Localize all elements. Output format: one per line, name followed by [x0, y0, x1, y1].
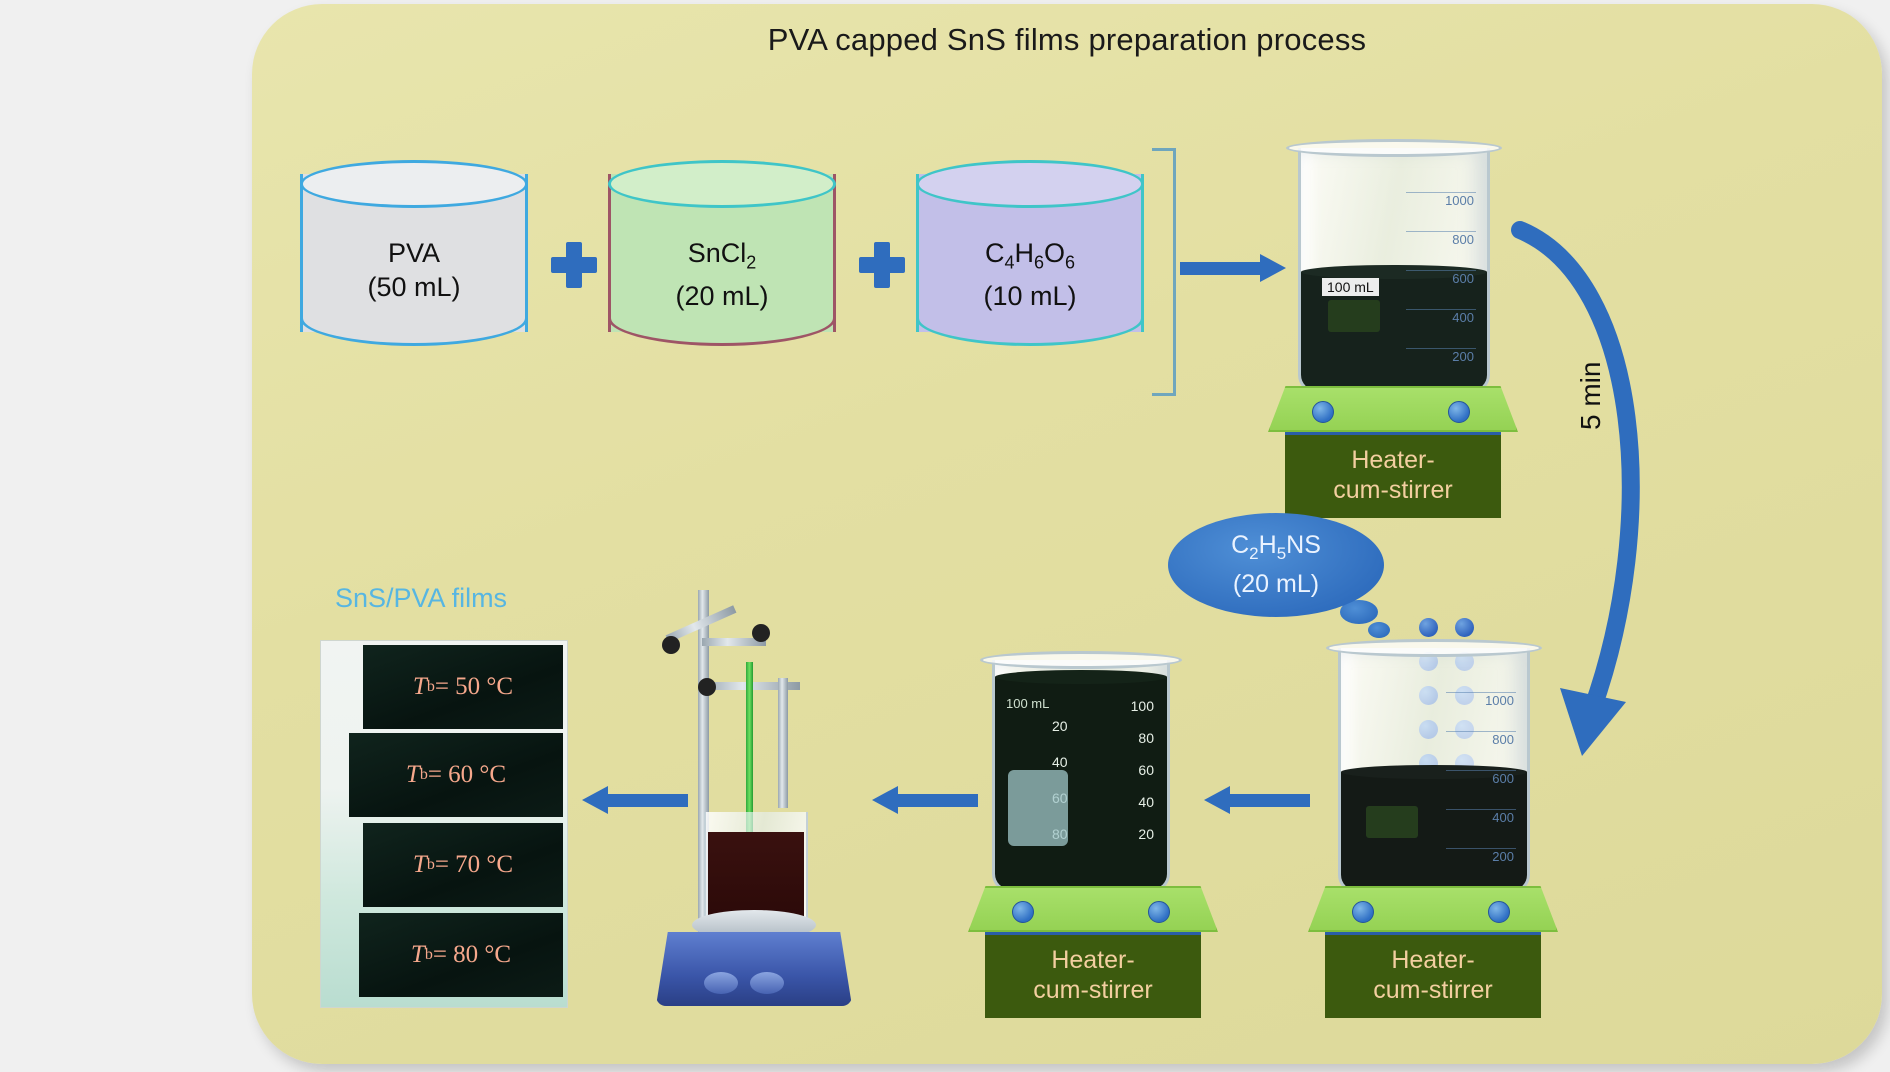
beaker-graduations-right: 100 80 60 40 20 [1114, 698, 1154, 842]
film-subscript: b [427, 856, 435, 874]
graduation-mark: 80 [1114, 730, 1154, 746]
reagent-formula: PVA [388, 238, 440, 268]
graduation-mark: 1000 [1406, 192, 1476, 208]
beaker-with-thiourea-addition: 1000 800 600 400 200 [1338, 648, 1530, 893]
heater-label-line2: cum-stirrer [1373, 976, 1492, 1004]
cylinder-top-ellipse [300, 160, 528, 208]
heater-label-line2: cum-stirrer [1033, 976, 1152, 1004]
film-strip-70c: Tb = 70 °C [363, 823, 563, 907]
graduation-mark: 100 [1114, 698, 1154, 714]
reagent-volume: (50 mL) [367, 272, 460, 302]
stirrer-knob-speed[interactable] [1012, 901, 1034, 923]
clamp-knob-lower[interactable] [698, 678, 716, 696]
heater-label: Heater- cum-stirrer [985, 932, 1201, 1018]
reagent-volume: (10 mL) [983, 281, 1076, 311]
subscript: 2 [746, 252, 756, 272]
heater-label: Heater- cum-stirrer [1325, 932, 1541, 1018]
reagent-cylinder-c4h6o6: C4H6O6 (10 mL) [916, 160, 1144, 346]
plus-icon-2 [859, 242, 905, 288]
cylinder-top-ellipse [608, 160, 836, 208]
reagent-cylinder-pva: PVA (50 mL) [300, 160, 528, 346]
stirrer-knob-speed[interactable] [1352, 901, 1374, 923]
reagent-volume: (20 mL) [675, 281, 768, 311]
stirrer-knob-speed[interactable] [1312, 401, 1334, 423]
callout-tail-small [1368, 622, 1390, 638]
arrow-stand-to-films [582, 790, 688, 810]
clamp-knob-upper-left[interactable] [662, 636, 680, 654]
heater-cum-stirrer-top[interactable]: Heater- cum-stirrer [1268, 386, 1518, 518]
hotplate-knob-right[interactable] [750, 972, 784, 994]
graduation-mark: 400 [1446, 809, 1516, 825]
graduation-mark: 400 [1406, 309, 1476, 325]
heater-label: Heater- cum-stirrer [1285, 432, 1501, 518]
callout-reagent-c2h5ns: C2H5NS (20 mL) [1168, 513, 1384, 617]
stir-bar [1328, 300, 1380, 332]
clamp-knob-upper-right[interactable] [752, 624, 770, 642]
callout-volume: (20 mL) [1233, 569, 1319, 600]
reagent-drop [1419, 618, 1438, 637]
graduation-mark: 200 [1406, 348, 1476, 364]
beaker-rim [1326, 639, 1542, 657]
graduation-mark: 1000 [1446, 692, 1516, 708]
film-symbol: T [413, 673, 427, 701]
graduation-mark: 800 [1406, 231, 1476, 247]
callout-formula: C2H5NS [1231, 530, 1321, 569]
stirrer-knob-heat[interactable] [1488, 901, 1510, 923]
grouping-bracket [1152, 148, 1176, 396]
film-value: = 60 °C [428, 761, 506, 789]
beaker-graduations: 1000 800 600 400 200 [1406, 192, 1476, 364]
heater-label-line1: Heater- [1351, 446, 1434, 474]
film-value: = 80 °C [433, 941, 511, 969]
beaker-dark-sns-solution: 100 mL 20 40 60 80 100 80 60 40 20 [992, 660, 1170, 892]
plus-icon-1 [551, 242, 597, 288]
beaker-initial-mixture: 1000 800 600 400 200 100 mL [1298, 148, 1490, 393]
heater-cum-stirrer-middle[interactable]: Heater- cum-stirrer [968, 886, 1218, 1018]
film-value: = 50 °C [435, 673, 513, 701]
heater-cum-stirrer-right[interactable]: Heater- cum-stirrer [1308, 886, 1558, 1018]
film-subscript: b [420, 766, 428, 784]
graduation-mark: 600 [1446, 770, 1516, 786]
films-photo-panel: Tb = 50 °C Tb = 60 °C Tb = 70 °C Tb = 80… [320, 640, 568, 1008]
beaker-volume-label: 100 mL [1322, 278, 1379, 296]
stir-bar [1366, 806, 1418, 838]
reagent-label-c4h6o6: C4H6O6 (10 mL) [916, 236, 1144, 313]
beaker-rim [980, 651, 1182, 669]
film-value: = 70 °C [435, 851, 513, 879]
heater-label-line2: cum-stirrer [1333, 476, 1452, 504]
page-title: PVA capped SnS films preparation process [252, 22, 1882, 58]
film-subscript: b [427, 678, 435, 696]
stirrer-knob-heat[interactable] [1148, 901, 1170, 923]
graduation-mark: 20 [1114, 826, 1154, 842]
condenser-rod [778, 678, 788, 808]
graduation-mark: 40 [1052, 754, 1116, 770]
magnetic-stirrer-hotplate[interactable] [656, 932, 852, 1006]
graduation-mark: 60 [1114, 762, 1154, 778]
film-symbol: T [411, 941, 425, 969]
timer-label: 5 min [1575, 362, 1607, 430]
hotplate-knob-left[interactable] [704, 972, 738, 994]
film-symbol: T [413, 851, 427, 879]
beaker-rim [1286, 139, 1502, 157]
reaction-beaker [704, 812, 808, 922]
beaker-graduations: 1000 800 600 400 200 [1446, 692, 1516, 864]
reagent-label-sncl2: SnCl2 (20 mL) [608, 236, 836, 313]
graduation-mark: 200 [1446, 848, 1516, 864]
stirrer-plate [1268, 386, 1518, 432]
films-title: SnS/PVA films [335, 583, 507, 614]
arrow-beaker2-to-beaker3 [1204, 790, 1310, 810]
graduation-mark: 600 [1406, 270, 1476, 286]
heater-label-line1: Heater- [1051, 946, 1134, 974]
arrow-beaker3-to-stand [872, 790, 978, 810]
arrow-mix-to-beaker1 [1180, 258, 1286, 278]
stirrer-plate [968, 886, 1218, 932]
beaker-top-label: 100 mL [1006, 696, 1049, 711]
graduation-mark: 40 [1114, 794, 1154, 810]
figure-canvas: PVA capped SnS films preparation process… [0, 0, 1890, 1072]
film-strip-80c: Tb = 80 °C [359, 913, 563, 997]
thermometer-probe [746, 662, 753, 832]
heater-label-line1: Heater- [1391, 946, 1474, 974]
reaction-liquid [708, 832, 804, 918]
reagent-label-pva: PVA (50 mL) [300, 236, 528, 304]
graduation-mark: 800 [1446, 731, 1516, 747]
film-symbol: T [406, 761, 420, 789]
film-subscript: b [425, 946, 433, 964]
film-strip-60c: Tb = 60 °C [349, 733, 563, 817]
stirrer-plate [1308, 886, 1558, 932]
cylinder-top-ellipse [916, 160, 1144, 208]
stirrer-knob-heat[interactable] [1448, 401, 1470, 423]
graduation-mark: 20 [1052, 718, 1116, 734]
beaker-label-plate [1008, 770, 1068, 846]
reagent-cylinder-sncl2: SnCl2 (20 mL) [608, 160, 836, 346]
reagent-drop [1455, 618, 1474, 637]
film-strip-50c: Tb = 50 °C [363, 645, 563, 729]
